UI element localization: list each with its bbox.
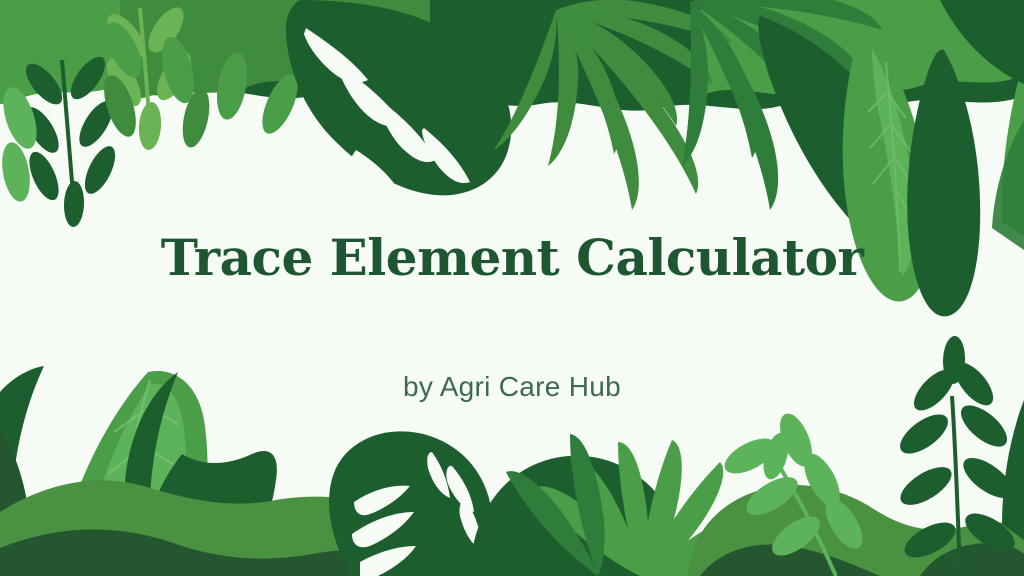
page-title: Trace Element Calculator: [161, 233, 864, 283]
title-slide: Trace Element Calculator by Agri Care Hu…: [0, 0, 1024, 576]
slide-content: Trace Element Calculator by Agri Care Hu…: [0, 0, 1024, 576]
slide-subtitle-attribution: by Agri Care Hub: [403, 373, 621, 401]
